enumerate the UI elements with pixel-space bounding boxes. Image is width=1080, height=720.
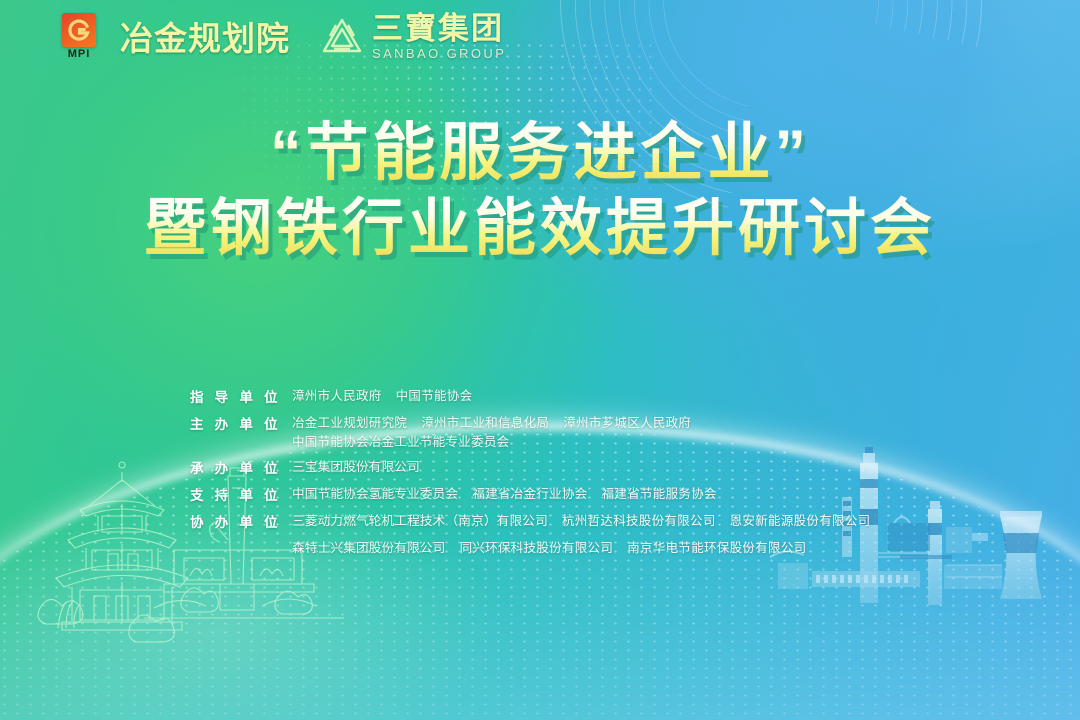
credit-row: 森特士兴集团股份有限公司同兴环保科技股份有限公司南京华电节能环保股份有限公司 <box>190 537 890 556</box>
credit-organization: 三菱动力燃气轮机工程技术（南京）有限公司 <box>292 510 548 529</box>
credit-values: 三宝集团股份有限公司 <box>292 456 420 475</box>
credit-label: 主办单位 <box>190 412 278 433</box>
credit-organization: 三宝集团股份有限公司 <box>292 456 420 475</box>
event-poster: MPI 冶金规划院 三寶集团 SANBAO GROUP “节能服务进企业” 暨钢… <box>0 0 1080 720</box>
credit-organization: 冶金工业规划研究院 <box>292 412 407 431</box>
mpi-square-logo-icon <box>62 13 96 47</box>
credit-row: 指导单位漳州市人民政府中国节能协会 <box>190 385 890 406</box>
credit-label: 指导单位 <box>190 385 278 406</box>
credit-organization: 杭州哲达科技股份有限公司 <box>562 510 716 529</box>
poster-title: “节能服务进企业” 暨钢铁行业能效提升研讨会 <box>0 118 1080 264</box>
credit-label: 承办单位 <box>190 456 278 477</box>
credit-values: 漳州市人民政府中国节能协会 <box>292 385 472 404</box>
sanbao-name-cn: 三寶集团 <box>372 13 506 44</box>
sanbao-triangle-logo-icon <box>320 16 364 56</box>
credit-label: 协办单位 <box>190 510 278 531</box>
credit-organization: 漳州市芗城区人民政府 <box>563 412 691 431</box>
header-logos: MPI 冶金规划院 三寶集团 SANBAO GROUP <box>62 12 506 60</box>
credit-organization: 南京华电节能环保股份有限公司 <box>627 537 806 556</box>
credit-organization: 中国节能协会 <box>396 385 473 404</box>
credit-organization: 漳州市工业和信息化局 <box>421 412 549 431</box>
credit-row: 主办单位冶金工业规划研究院漳州市工业和信息化局漳州市芗城区人民政府中国节能协会冶… <box>190 412 890 450</box>
mpi-g-glyph-icon <box>67 18 91 42</box>
mpi-name-cn: 冶金规划院 <box>120 12 290 60</box>
credit-organization: 漳州市人民政府 <box>292 385 382 404</box>
credit-organization: 福建省节能服务协会 <box>602 483 717 502</box>
credit-values: 森特士兴集团股份有限公司同兴环保科技股份有限公司南京华电节能环保股份有限公司 <box>292 537 806 556</box>
sanbao-text: 三寶集团 SANBAO GROUP <box>372 13 506 60</box>
credit-organization: 福建省冶金行业协会 <box>472 483 587 502</box>
credit-row: 承办单位三宝集团股份有限公司 <box>190 456 890 477</box>
credit-values: 三菱动力燃气轮机工程技术（南京）有限公司杭州哲达科技股份有限公司恩安新能源股份有… <box>292 510 870 529</box>
credits-block: 指导单位漳州市人民政府中国节能协会主办单位冶金工业规划研究院漳州市工业和信息化局… <box>0 385 1080 556</box>
credit-values: 中国节能协会氢能专业委员会福建省冶金行业协会福建省节能服务协会 <box>292 483 717 502</box>
credit-organization: 同兴环保科技股份有限公司 <box>460 537 614 556</box>
credit-organization: 恩安新能源股份有限公司 <box>730 510 871 529</box>
credit-row: 支持单位中国节能协会氢能专业委员会福建省冶金行业协会福建省节能服务协会 <box>190 483 890 504</box>
sanbao-logo: 三寶集团 SANBAO GROUP <box>320 13 506 60</box>
title-line-2: 暨钢铁行业能效提升研讨会 <box>0 194 1080 265</box>
title-line-1: “节能服务进企业” <box>0 118 1080 190</box>
mpi-abbr: MPI <box>68 48 91 60</box>
credit-organization: 中国节能协会冶金工业节能专业委员会 <box>292 431 510 450</box>
credit-organization: 森特士兴集团股份有限公司 <box>292 537 446 556</box>
credit-organization: 中国节能协会氢能专业委员会 <box>292 483 458 502</box>
credit-values: 冶金工业规划研究院漳州市工业和信息化局漳州市芗城区人民政府中国节能协会冶金工业节… <box>292 412 890 450</box>
credit-label: 支持单位 <box>190 483 278 504</box>
credit-row: 协办单位三菱动力燃气轮机工程技术（南京）有限公司杭州哲达科技股份有限公司恩安新能… <box>190 510 890 531</box>
sanbao-name-en: SANBAO GROUP <box>372 47 506 60</box>
mpi-logo: MPI <box>62 13 96 60</box>
